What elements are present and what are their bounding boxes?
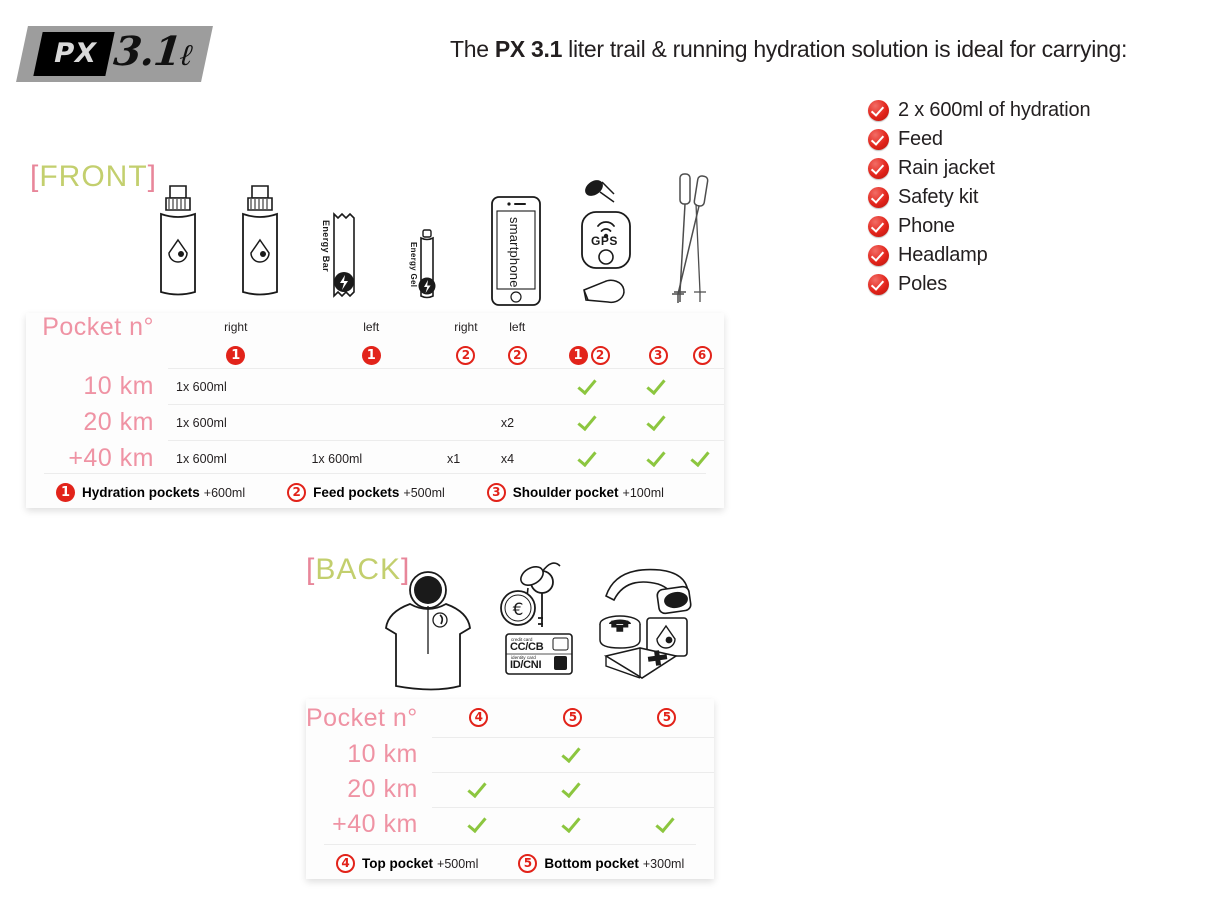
cell-value: 1x 600ml	[303, 441, 438, 477]
legend-volume: +500ml	[403, 486, 444, 500]
red-check-icon	[868, 245, 889, 266]
legend-volume: +500ml	[437, 857, 478, 871]
energy-bar-icon: Energy Bar	[326, 210, 362, 305]
green-check-icon	[471, 776, 487, 798]
cell-check	[526, 807, 620, 842]
column-side-label: left	[303, 313, 438, 342]
list-item: Rain jacket	[868, 154, 1198, 183]
pocket-badge-cell: 5	[620, 699, 714, 737]
green-check-icon	[650, 445, 666, 467]
cell-check	[542, 405, 637, 441]
bracket-open: [	[30, 160, 39, 193]
back-table: Pocket n° 4 5 5 10 km 20 km +40 km	[306, 699, 714, 842]
cell-check	[526, 772, 620, 807]
cell-check	[620, 807, 714, 842]
feature-list: 2 x 600ml of hydration Feed Rain jacket …	[868, 96, 1198, 299]
green-check-icon	[650, 373, 666, 395]
list-item: Headlamp	[868, 241, 1198, 270]
credit-card-label: CC/CB	[510, 641, 543, 653]
feature-label: Poles	[898, 273, 947, 296]
legend-item: 2 Feed pockets +500ml	[287, 483, 445, 502]
cell-empty	[432, 737, 526, 772]
headline-brand: PX 3.1	[495, 36, 562, 62]
cell-check	[432, 807, 526, 842]
rain-jacket-icon	[380, 564, 476, 694]
red-check-icon	[868, 274, 889, 295]
pocket-badge-cell: 5	[526, 699, 620, 737]
pocket-badge: 5	[563, 708, 582, 727]
column-side-label	[680, 313, 724, 342]
table-badge-row: 1 1 2 2 12 3 6	[26, 342, 724, 369]
pocket-badge: 2	[508, 346, 527, 365]
green-check-icon	[650, 409, 666, 431]
cell-value	[303, 405, 438, 441]
page-title: The PX 3.1 liter trail & running hydrati…	[450, 36, 1170, 63]
energy-bar-label: Energy Bar	[321, 220, 331, 310]
legend-badge: 4	[336, 854, 355, 873]
cell-empty	[680, 369, 724, 405]
pocket-badge-cell: 2	[439, 342, 493, 369]
table-badge-row: Pocket n° 4 5 5	[306, 699, 714, 737]
cell-check	[432, 772, 526, 807]
front-label-text: FRONT	[39, 160, 147, 193]
back-illustration-row: € credit card CC/CB identity card ID/CNI	[380, 550, 710, 695]
pocket-badge-cell: 12	[542, 342, 637, 369]
cell-value: x2	[493, 405, 542, 441]
energy-gel-icon: Energy Gel	[412, 228, 442, 306]
distance-label: +40 km	[306, 807, 432, 842]
list-item: 2 x 600ml of hydration	[868, 96, 1198, 125]
pocket-badge: 1	[362, 346, 381, 365]
column-side-label	[542, 313, 637, 342]
pocket-badge: 1	[226, 346, 245, 365]
table-row: +40 km 1x 600ml 1x 600ml x1 x4	[26, 441, 724, 477]
legend-badge: 3	[487, 483, 506, 502]
front-section-label: [FRONT]	[30, 160, 157, 194]
water-bottle-left-icon	[230, 182, 290, 312]
cell-value	[493, 369, 542, 405]
pocket-badge: 2	[591, 346, 610, 365]
smartphone-label: smartphone	[507, 217, 522, 297]
logo-px-text: PX	[38, 38, 111, 72]
list-item: Feed	[868, 125, 1198, 154]
smartphone-icon: smartphone	[488, 195, 544, 307]
legend-name: Feed pockets	[313, 485, 399, 500]
cell-value	[439, 405, 493, 441]
column-side-label: left	[493, 313, 542, 342]
back-legend: 4 Top pocket +500ml 5 Bottom pocket +300…	[306, 854, 714, 873]
table-row: 10 km	[306, 737, 714, 772]
keys-money-cards-icon: € credit card CC/CB identity card ID/CNI	[498, 552, 588, 678]
legend-badge: 2	[287, 483, 306, 502]
cell-value: x1	[439, 441, 493, 477]
feature-label: Feed	[898, 128, 943, 151]
back-pocket-table: Pocket n° 4 5 5 10 km 20 km +40 km	[306, 699, 714, 879]
legend-badge: 1	[56, 483, 75, 502]
list-item: Safety kit	[868, 183, 1198, 212]
legend-item: 5 Bottom pocket +300ml	[518, 854, 684, 873]
green-check-icon	[565, 811, 581, 833]
legend-name: Shoulder pocket	[513, 485, 619, 500]
legend-divider	[324, 844, 696, 845]
column-side-label: right	[168, 313, 303, 342]
distance-label: 20 km	[26, 405, 168, 441]
pocket-badge-cell: 3	[636, 342, 680, 369]
energy-gel-label: Energy Gel	[409, 242, 418, 312]
front-table-corner-label: Pocket n°	[26, 313, 168, 342]
pocket-badge: 3	[649, 346, 668, 365]
legend-name: Bottom pocket	[544, 856, 639, 871]
pocket-badge-cell: 1	[303, 342, 438, 369]
front-table: Pocket n° right left right left 1 1 2 2	[26, 313, 724, 476]
pocket-badge-cell: 4	[432, 699, 526, 737]
green-check-icon	[471, 811, 487, 833]
pocket-badge: 2	[456, 346, 475, 365]
pocket-badge-cell: 2	[493, 342, 542, 369]
safety-kit-icon	[592, 560, 697, 685]
green-check-icon	[581, 445, 597, 467]
pocket-badge: 1	[569, 346, 588, 365]
legend-item: 1 Hydration pockets +600ml	[56, 483, 245, 502]
back-table-corner-label: Pocket n°	[306, 699, 432, 737]
cell-value: x4	[493, 441, 542, 477]
trekking-poles-icon	[658, 168, 728, 308]
cell-empty	[620, 737, 714, 772]
cell-check	[636, 369, 680, 405]
front-pocket-table: Pocket n° right left right left 1 1 2 2	[26, 313, 724, 508]
distance-label: 10 km	[306, 737, 432, 772]
cell-value	[303, 369, 438, 405]
red-check-icon	[868, 158, 889, 179]
legend-item: 4 Top pocket +500ml	[336, 854, 478, 873]
legend-volume: +600ml	[204, 486, 245, 500]
red-check-icon	[868, 187, 889, 208]
red-check-icon	[868, 129, 889, 150]
legend-volume: +300ml	[643, 857, 684, 871]
cell-check	[542, 369, 637, 405]
list-item: Poles	[868, 270, 1198, 299]
pocket-badge-cell: 1	[168, 342, 303, 369]
logo-size-number: 3.1	[112, 28, 184, 75]
water-bottle-right-icon	[148, 182, 208, 312]
cell-value: 1x 600ml	[168, 441, 303, 477]
legend-divider	[44, 473, 706, 474]
green-check-icon	[694, 445, 710, 467]
green-check-icon	[565, 776, 581, 798]
green-check-icon	[581, 409, 597, 431]
cell-empty	[680, 405, 724, 441]
table-row: 20 km	[306, 772, 714, 807]
logo-size-text: 3.1ℓ	[112, 28, 195, 75]
front-illustration-row: Energy Bar Energy Gel smartphone	[140, 160, 740, 310]
column-side-label	[636, 313, 680, 342]
table-row: 10 km 1x 600ml	[26, 369, 724, 405]
front-legend: 1 Hydration pockets +600ml 2 Feed pocket…	[26, 483, 724, 502]
red-check-icon	[868, 100, 889, 121]
feature-label: Headlamp	[898, 244, 988, 267]
headline-before: The	[450, 36, 495, 62]
feature-label: Phone	[898, 215, 955, 238]
gps-label: GPS	[591, 234, 618, 248]
distance-label: +40 km	[26, 441, 168, 477]
cell-empty	[620, 772, 714, 807]
headline-after: liter trail & running hydration solution…	[562, 36, 1127, 62]
table-header-row: Pocket n° right left right left	[26, 313, 724, 342]
legend-volume: +100ml	[623, 486, 664, 500]
distance-label: 20 km	[306, 772, 432, 807]
bracket-open: [	[306, 553, 315, 586]
cell-value	[439, 369, 493, 405]
product-logo: PX 3.1ℓ	[22, 26, 222, 88]
cell-value: 1x 600ml	[168, 405, 303, 441]
legend-badge: 5	[518, 854, 537, 873]
red-check-icon	[868, 216, 889, 237]
legend-name: Top pocket	[362, 856, 433, 871]
legend-item: 3 Shoulder pocket +100ml	[487, 483, 664, 502]
column-side-label: right	[439, 313, 493, 342]
cell-check	[680, 441, 724, 477]
list-item: Phone	[868, 212, 1198, 241]
cell-check	[636, 441, 680, 477]
table-row: 20 km 1x 600ml x2	[26, 405, 724, 441]
pocket-badge: 5	[657, 708, 676, 727]
pocket-badge-cell: 6	[680, 342, 724, 369]
feature-label: 2 x 600ml of hydration	[898, 99, 1090, 122]
cell-check	[526, 737, 620, 772]
feature-label: Rain jacket	[898, 157, 995, 180]
legend-name: Hydration pockets	[82, 485, 200, 500]
identity-card-label: ID/CNI	[510, 659, 541, 671]
green-check-icon	[581, 373, 597, 395]
cell-check	[636, 405, 680, 441]
green-check-icon	[659, 811, 675, 833]
cell-value: 1x 600ml	[168, 369, 303, 405]
pocket-badge: 6	[693, 346, 712, 365]
gps-device-icon: GPS	[572, 172, 642, 310]
pocket-badge: 4	[469, 708, 488, 727]
distance-label: 10 km	[26, 369, 168, 405]
svg-text:€: €	[513, 600, 524, 620]
cell-check	[542, 441, 637, 477]
table-row: +40 km	[306, 807, 714, 842]
feature-label: Safety kit	[898, 186, 978, 209]
green-check-icon	[565, 741, 581, 763]
